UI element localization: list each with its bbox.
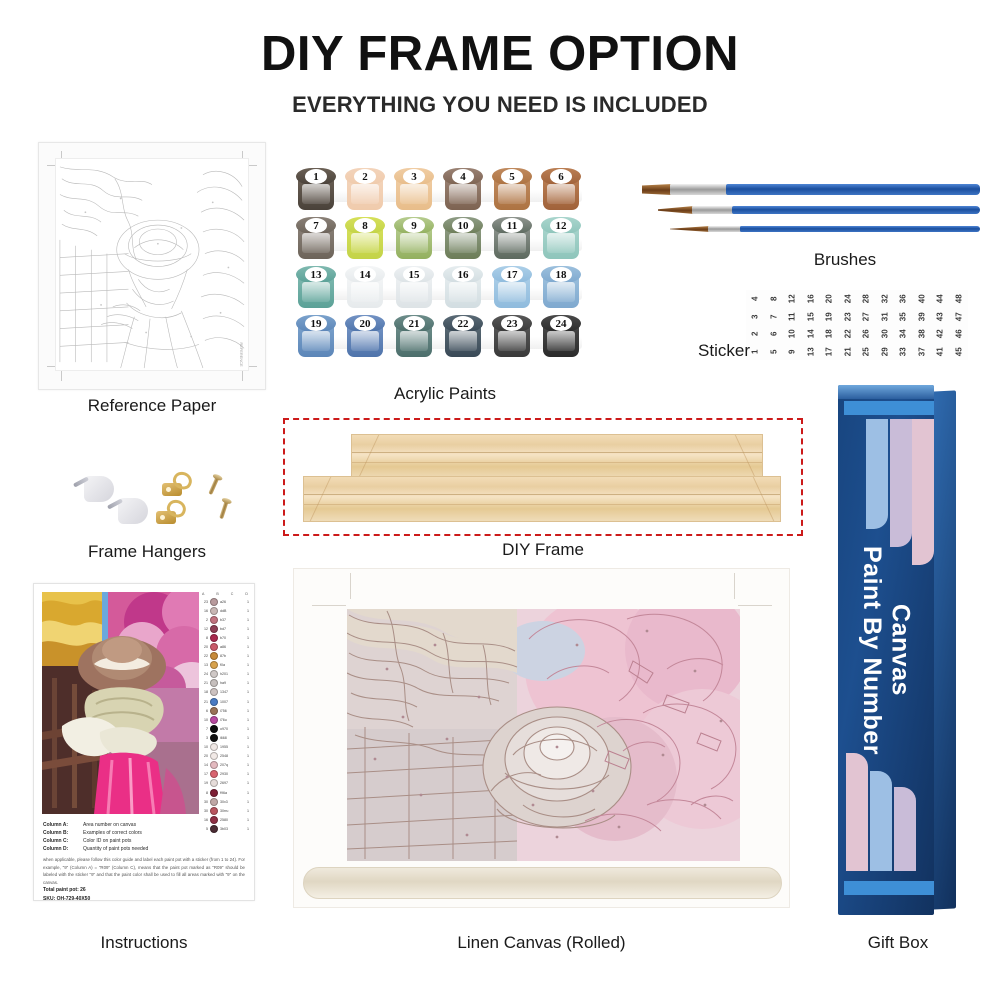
paint-pot-gloss (498, 184, 526, 204)
brush-flat (642, 184, 980, 195)
sticker-number-27[interactable]: 27 (858, 307, 876, 326)
sticker-number-17[interactable]: 17 (821, 342, 839, 361)
sticker-number-39[interactable]: 39 (913, 307, 931, 326)
legend-quantity: 1 (244, 791, 249, 795)
frame-hangers-group (66, 468, 246, 532)
paint-pot-23[interactable]: 23 (492, 315, 532, 359)
legend-row: 2110071 (201, 697, 249, 706)
legend-quantity: 1 (244, 700, 249, 704)
legend-row: 23a261 (201, 597, 249, 606)
legend-area-number: 3 (201, 736, 208, 740)
legend-color-code: 2697 (220, 781, 242, 785)
plastic-hook-2 (118, 498, 148, 524)
legend-row: 7o9701 (201, 724, 249, 733)
legend-quantity: 1 (244, 636, 249, 640)
paint-pot-5[interactable]: 5 (492, 168, 532, 212)
legend-area-number: 21 (201, 700, 208, 704)
legend-row: 8f96a1 (201, 788, 249, 797)
paint-pot-gloss (400, 331, 428, 351)
legend-color-swatch (210, 707, 218, 715)
legend-area-number: 17 (201, 772, 208, 776)
legend-color-code: 30rru (220, 809, 242, 813)
legend-area-number: 18 (201, 690, 208, 694)
paint-pot-row: 789101112 (296, 215, 586, 264)
caption-sticker: Sticker (660, 341, 750, 361)
legend-color-swatch (210, 679, 218, 687)
legend-quantity: 1 (244, 727, 249, 731)
legend-quantity: 1 (244, 654, 249, 658)
legend-quantity: 1 (244, 663, 249, 667)
caption-frame-hangers: Frame Hangers (36, 542, 258, 562)
sticker-number-16[interactable]: 16 (802, 290, 820, 309)
legend-color-code: b70 (220, 636, 242, 640)
paint-pot-gloss (351, 331, 379, 351)
sticker-number-18[interactable]: 18 (821, 325, 839, 344)
sticker-number-32[interactable]: 32 (876, 290, 894, 309)
caption-linen-canvas: Linen Canvas (Rolled) (293, 933, 790, 953)
paint-pot-row: 192021222324 (296, 313, 586, 362)
paint-pot-gloss (400, 233, 428, 253)
legend-color-swatch (210, 770, 218, 778)
sticker-number-25[interactable]: 25 (858, 342, 876, 361)
sticker-sheet: 4812162024283236404448371115192327313539… (746, 290, 968, 360)
legend-color-code: ddB (220, 609, 242, 613)
legend-area-number: 12 (201, 627, 208, 631)
legend-quantity: 1 (244, 609, 249, 613)
infographic-root: DIY FRAME OPTION EVERYTHING YOU NEED IS … (0, 0, 1000, 1000)
legend-color-code: o970 (220, 727, 242, 731)
paint-pot-number: 12 (541, 217, 581, 234)
legend-color-code: h201 (220, 672, 242, 676)
paint-pot-number: 21 (394, 315, 434, 332)
legend-color-swatch (210, 779, 218, 787)
legend-row: 1729301 (201, 770, 249, 779)
paint-pot-20[interactable]: 20 (345, 315, 385, 359)
paint-brushes (620, 176, 980, 246)
gift-box-side (932, 390, 956, 909)
legend-row: 8b701 (201, 633, 249, 642)
legend-quantity: 1 (244, 690, 249, 694)
sticker-number-14[interactable]: 14 (802, 325, 820, 344)
legend-area-number: 20 (201, 645, 208, 649)
sticker-number-46[interactable]: 46 (950, 325, 968, 344)
legend-row: 10i76u1 (201, 715, 249, 724)
color-legend: A B C D 23a26116ddB12b37112bd718b70120a8… (201, 592, 249, 814)
instruction-column-line: Column A:Area number on canvas (43, 821, 243, 829)
legend-row: 2b371 (201, 615, 249, 624)
instruction-column-desc: Color ID on paint pots (83, 837, 131, 845)
instruction-column-desc: Area number on canvas (83, 821, 136, 829)
legend-quantity: 1 (244, 809, 249, 813)
paint-pot-number: 5 (492, 168, 532, 185)
legend-area-number: 20 (201, 754, 208, 758)
legend-quantity: 1 (244, 736, 249, 740)
legend-quantity: 1 (244, 627, 249, 631)
caption-diy-frame: DIY Frame (283, 540, 803, 560)
instructions-artwork-svg (42, 592, 199, 814)
brush-detail-fine (670, 226, 980, 232)
legend-color-code: a26 (220, 600, 242, 604)
instruction-column-key: Column A: (43, 821, 79, 829)
sticker-number-5[interactable]: 5 (765, 342, 783, 361)
paint-pot-gloss (400, 282, 428, 302)
instructions-column-key: Column A:Area number on canvasColumn B:E… (43, 821, 243, 853)
legend-area-number: 22 (201, 654, 208, 658)
legend-color-code: 1007 (220, 700, 242, 704)
paint-pot-number: 6 (541, 168, 581, 185)
legend-color-code: f96a (220, 791, 242, 795)
legend-quantity: 1 (244, 681, 249, 685)
paint-pot-gloss (351, 184, 379, 204)
legend-quantity: 1 (244, 718, 249, 722)
paint-pot-gloss (498, 331, 526, 351)
paint-pot-10[interactable]: 10 (443, 217, 483, 261)
sticker-number-8[interactable]: 8 (765, 290, 783, 309)
paint-pot-row: 123456 (296, 166, 586, 215)
sticker-number-47[interactable]: 47 (950, 307, 968, 326)
legend-row: 2287b1 (201, 652, 249, 661)
legend-header-d: D (245, 592, 248, 596)
paint-pot-number: 8 (345, 217, 385, 234)
legend-rows: 23a26116ddB12b37112bd718b70120a8612287b1… (201, 597, 249, 833)
legend-row: 3i6681 (201, 733, 249, 742)
legend-row: 16ddB1 (201, 606, 249, 615)
screw-1 (208, 476, 219, 495)
legend-color-swatch (210, 743, 218, 751)
legend-quantity: 1 (244, 800, 249, 804)
paint-pot-number: 7 (296, 217, 336, 234)
paint-pot-4[interactable]: 4 (443, 168, 483, 212)
paint-pot-number: 11 (492, 217, 532, 234)
legend-row: 1813471 (201, 688, 249, 697)
legend-color-swatch (210, 616, 218, 624)
paint-pot-16[interactable]: 16 (443, 266, 483, 310)
paint-pot-number: 24 (541, 315, 581, 332)
paint-pot-9[interactable]: 9 (394, 217, 434, 261)
instruction-column-key: Column D: (43, 845, 79, 853)
legend-row: 2025481 (201, 752, 249, 761)
sticker-number-grid: 4812162024283236404448371115192327313539… (746, 290, 968, 360)
paint-pot-gloss (498, 233, 526, 253)
sticker-number-38[interactable]: 38 (913, 325, 931, 344)
legend-quantity: 1 (244, 645, 249, 649)
legend-area-number: 14 (201, 763, 208, 767)
paint-pot-number: 18 (541, 266, 581, 283)
legend-color-code: 2930 (220, 772, 242, 776)
linen-canvas-rolled (293, 568, 790, 908)
sticker-number-30[interactable]: 30 (876, 325, 894, 344)
sticker-number-34[interactable]: 34 (895, 325, 913, 344)
sticker-number-28[interactable]: 28 (858, 290, 876, 309)
legend-area-number: 21 (201, 681, 208, 685)
paint-pot-gloss (449, 184, 477, 204)
caption-acrylic-paints: Acrylic Paints (330, 384, 560, 404)
caption-brushes: Brushes (770, 250, 920, 270)
legend-quantity: 1 (244, 618, 249, 622)
paint-pot-gloss (547, 331, 575, 351)
d-ring-hanger-1 (162, 472, 192, 496)
legend-row: 13f0a1 (201, 661, 249, 670)
legend-area-number: 13 (201, 663, 208, 667)
paint-pot-19[interactable]: 19 (296, 315, 336, 359)
canvas-lineart-svg (347, 609, 740, 861)
paint-pot-gloss (449, 331, 477, 351)
legend-quantity: 1 (244, 745, 249, 749)
legend-quantity: 1 (244, 818, 249, 822)
paint-pot-14[interactable]: 14 (345, 266, 385, 310)
legend-quantity: 1 (244, 781, 249, 785)
paint-pot-gloss (302, 282, 330, 302)
wood-bar-bottom (303, 476, 781, 522)
paint-pot-21[interactable]: 21 (394, 315, 434, 359)
legend-color-code: 87b (220, 654, 242, 658)
paint-pot-number: 9 (394, 217, 434, 234)
paint-pot-number: 1 (296, 168, 336, 185)
canvas-lineart (347, 609, 740, 861)
legend-area-number: 16 (201, 609, 208, 613)
sticker-number-7[interactable]: 7 (765, 307, 783, 326)
legend-area-number: 7 (201, 727, 208, 731)
legend-color-swatch (210, 807, 218, 815)
legend-color-swatch (210, 798, 218, 806)
diy-frame-box (283, 418, 803, 536)
sticker-number-44[interactable]: 44 (932, 290, 950, 309)
instruction-column-key: Column B: (43, 829, 79, 837)
instructions-note: when applicable, please follow this colo… (43, 856, 245, 886)
svg-text:REFERENCE: REFERENCE (239, 342, 244, 367)
sticker-number-37[interactable]: 37 (913, 342, 931, 361)
instruction-column-line: Column B:Examples of correct colors (43, 829, 243, 837)
sticker-number-22[interactable]: 22 (839, 325, 857, 344)
paint-pot-12[interactable]: 12 (541, 217, 581, 261)
legend-header-a: A (202, 592, 204, 596)
acrylic-paint-pots: 123456789101112131415161718192021222324 (296, 166, 586, 362)
legend-area-number: 8 (201, 791, 208, 795)
d-ring-hanger-2 (156, 500, 186, 524)
paint-pot-15[interactable]: 15 (394, 266, 434, 310)
legend-row: 6i7561 (201, 706, 249, 715)
paint-pot-1[interactable]: 1 (296, 168, 336, 212)
wood-bar-top (351, 434, 763, 480)
legend-color-swatch (210, 670, 218, 678)
legend-color-code: i756 (220, 709, 242, 713)
sticker-number-48[interactable]: 48 (950, 290, 968, 309)
reference-lineart-svg: REFERENCE (56, 159, 248, 370)
total-paint-pot: Total paint pot: 26 (43, 886, 243, 895)
paint-pot-gloss (351, 233, 379, 253)
sticker-number-33[interactable]: 33 (895, 342, 913, 361)
instruction-column-line: Column D:Quantity of paint pots needed (43, 845, 243, 853)
sticker-number-23[interactable]: 23 (839, 307, 857, 326)
reference-paper-lineart: REFERENCE (55, 158, 249, 371)
legend-color-code: 2548 (220, 754, 242, 758)
legend-area-number: 19 (201, 781, 208, 785)
legend-color-swatch (210, 761, 218, 769)
legend-color-swatch (210, 789, 218, 797)
legend-color-swatch (210, 716, 218, 724)
paint-pot-number: 13 (296, 266, 336, 283)
legend-color-swatch (210, 661, 218, 669)
brush-round-medium (658, 206, 980, 214)
legend-color-swatch (210, 734, 218, 742)
legend-area-number: 30 (201, 809, 208, 813)
legend-quantity: 1 (244, 754, 249, 758)
paint-pot-gloss (302, 184, 330, 204)
legend-area-number: 2 (201, 618, 208, 622)
legend-color-code: bd7 (220, 627, 242, 631)
paint-pot-gloss (498, 282, 526, 302)
sticker-number-19[interactable]: 19 (821, 307, 839, 326)
paint-pot-7[interactable]: 7 (296, 217, 336, 261)
caption-reference-paper: Reference Paper (38, 396, 266, 416)
gift-box-title: Canvas Paint By Number (838, 385, 934, 915)
legend-row: 24h2011 (201, 670, 249, 679)
sticker-number-24[interactable]: 24 (839, 290, 857, 309)
sticker-number-20[interactable]: 20 (821, 290, 839, 309)
paint-pot-number: 15 (394, 266, 434, 283)
paint-pot-gloss (302, 331, 330, 351)
legend-color-code: 207q (220, 763, 242, 767)
plastic-hook-1 (84, 476, 114, 502)
legend-header-c: C (231, 592, 234, 596)
paint-pot-number: 19 (296, 315, 336, 332)
paint-pot-number: 3 (394, 168, 434, 185)
paint-pot-number: 10 (443, 217, 483, 234)
paint-pot-3[interactable]: 3 (394, 168, 434, 212)
paint-pot-number: 22 (443, 315, 483, 332)
paint-pot-number: 14 (345, 266, 385, 283)
page-title: DIY FRAME OPTION (0, 26, 1000, 82)
legend-header-b: B (216, 592, 218, 596)
legend-color-code: f0a (220, 663, 242, 667)
legend-row: 3030x31 (201, 797, 249, 806)
paint-pot-gloss (449, 282, 477, 302)
paint-pot-gloss (547, 184, 575, 204)
legend-area-number: 23 (201, 600, 208, 604)
instructions-artwork-preview (42, 592, 199, 814)
caption-instructions: Instructions (33, 933, 255, 953)
canvas-roll-bottom (303, 867, 782, 899)
sticker-number-10[interactable]: 10 (784, 325, 802, 344)
sticker-number-11[interactable]: 11 (784, 307, 802, 326)
legend-area-number: 24 (201, 672, 208, 676)
legend-color-code: i668 (220, 736, 242, 740)
instruction-column-line: Column C:Color ID on paint pots (43, 837, 243, 845)
paint-pot-22[interactable]: 22 (443, 315, 483, 359)
paint-pot-gloss (547, 282, 575, 302)
legend-color-code: b37 (220, 618, 242, 622)
legend-color-swatch (210, 752, 218, 760)
page-subtitle: EVERYTHING YOU NEED IS INCLUDED (0, 92, 1000, 118)
sticker-number-4[interactable]: 4 (747, 290, 765, 309)
instruction-column-desc: Examples of correct colors (83, 829, 142, 837)
paint-pot-8[interactable]: 8 (345, 217, 385, 261)
legend-color-swatch (210, 725, 218, 733)
paint-pot-24[interactable]: 24 (541, 315, 581, 359)
sticker-number-31[interactable]: 31 (876, 307, 894, 326)
paint-pot-gloss (547, 233, 575, 253)
paint-pot-13[interactable]: 13 (296, 266, 336, 310)
paint-pot-number: 20 (345, 315, 385, 332)
paint-pot-18[interactable]: 18 (541, 266, 581, 310)
legend-row: 12bd71 (201, 624, 249, 633)
sticker-number-13[interactable]: 13 (802, 342, 820, 361)
instructions-footer: Total paint pot: 26 SKU: QH-729-40X50 (43, 886, 243, 901)
sticker-number-3[interactable]: 3 (747, 307, 765, 326)
sticker-number-35[interactable]: 35 (895, 307, 913, 326)
legend-area-number: 30 (201, 800, 208, 804)
legend-quantity: 1 (244, 672, 249, 676)
reference-paper: REFERENCE (38, 142, 266, 390)
legend-color-swatch (210, 598, 218, 606)
sticker-number-6[interactable]: 6 (765, 325, 783, 344)
legend-color-swatch (210, 688, 218, 696)
paint-pot-2[interactable]: 2 (345, 168, 385, 212)
sticker-number-15[interactable]: 15 (802, 307, 820, 326)
legend-quantity: 1 (244, 772, 249, 776)
legend-color-swatch (210, 698, 218, 706)
legend-quantity: 1 (244, 827, 249, 831)
legend-color-code: i76u (220, 718, 242, 722)
legend-quantity: 1 (244, 763, 249, 767)
legend-quantity: 1 (244, 600, 249, 604)
legend-row: 3030rru1 (201, 806, 249, 815)
sticker-number-42[interactable]: 42 (932, 325, 950, 344)
sticker-number-29[interactable]: 29 (876, 342, 894, 361)
legend-row: 1019551 (201, 743, 249, 752)
legend-color-code: 30x3 (220, 800, 242, 804)
sticker-number-45[interactable]: 45 (950, 342, 968, 361)
paint-pot-gloss (302, 233, 330, 253)
legend-color-swatch (210, 652, 218, 660)
legend-color-swatch (210, 625, 218, 633)
legend-color-swatch (210, 643, 218, 651)
sticker-number-41[interactable]: 41 (932, 342, 950, 361)
paint-pot-number: 16 (443, 266, 483, 283)
paint-pot-6[interactable]: 6 (541, 168, 581, 212)
sticker-number-26[interactable]: 26 (858, 325, 876, 344)
sticker-number-12[interactable]: 12 (784, 290, 802, 309)
paint-pot-number: 23 (492, 315, 532, 332)
paint-pot-17[interactable]: 17 (492, 266, 532, 310)
instruction-column-key: Column C: (43, 837, 79, 845)
sticker-number-43[interactable]: 43 (932, 307, 950, 326)
legend-color-code: ha9 (220, 681, 242, 685)
legend-row: 14207q1 (201, 761, 249, 770)
paint-pot-gloss (351, 282, 379, 302)
sticker-number-9[interactable]: 9 (784, 342, 802, 361)
sticker-number-36[interactable]: 36 (895, 290, 913, 309)
legend-area-number: 8 (201, 636, 208, 640)
legend-color-code: a86 (220, 645, 242, 649)
paint-pot-gloss (449, 233, 477, 253)
paint-pot-11[interactable]: 11 (492, 217, 532, 261)
caption-gift-box: Gift Box (828, 933, 968, 953)
legend-quantity: 1 (244, 709, 249, 713)
legend-row: 1926971 (201, 779, 249, 788)
paint-pot-gloss (400, 184, 428, 204)
legend-area-number: 10 (201, 745, 208, 749)
gift-box-front: Canvas Paint By Number (838, 385, 934, 915)
sticker-number-21[interactable]: 21 (839, 342, 857, 361)
legend-area-number: 6 (201, 709, 208, 713)
legend-color-code: 1347 (220, 690, 242, 694)
paint-pot-number: 17 (492, 266, 532, 283)
sticker-number-40[interactable]: 40 (913, 290, 931, 309)
paint-pot-row: 131415161718 (296, 264, 586, 313)
legend-row: 20a861 (201, 642, 249, 651)
screw-2 (219, 500, 229, 519)
